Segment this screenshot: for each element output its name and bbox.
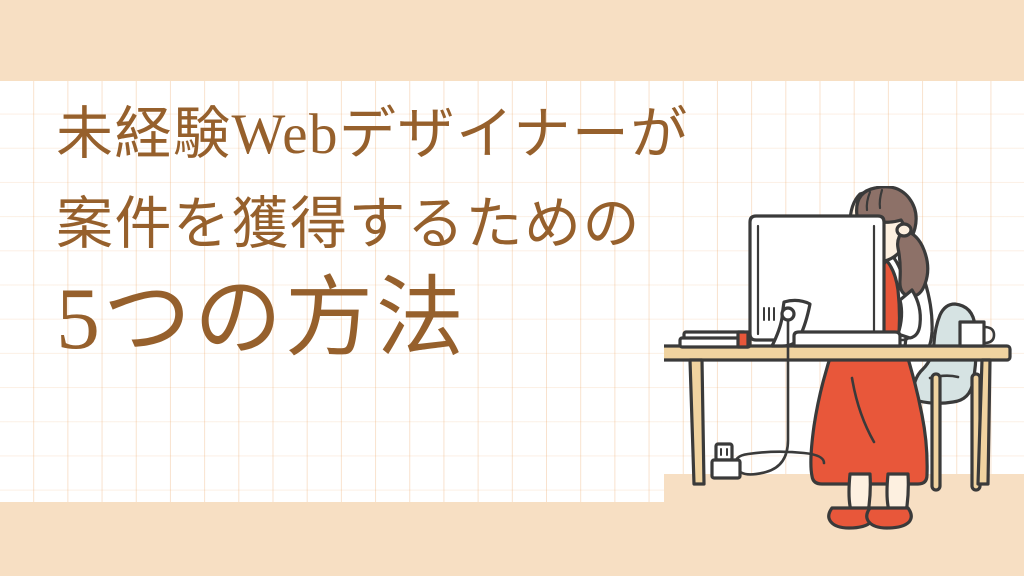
headline-block: 未経験Webデザイナーが 案件を獲得するための 5つの方法 — [56, 104, 776, 368]
headline-line-1: 未経験Webデザイナーが — [56, 104, 776, 166]
top-accent-band — [0, 0, 1024, 81]
desk-leg-left — [690, 360, 704, 484]
headline-line-2: 案件を獲得するための — [56, 194, 776, 256]
power-outlet-icon — [712, 444, 740, 478]
ponytail — [898, 230, 928, 296]
headline-line-3: 5つの方法 — [56, 272, 776, 368]
mug-icon — [960, 322, 994, 346]
poster-canvas: 未経験Webデザイナーが 案件を獲得するための 5つの方法 — [0, 0, 1024, 576]
desk-leg-right — [978, 360, 990, 484]
keyboard-icon — [794, 332, 900, 346]
slipper-right — [867, 508, 912, 528]
